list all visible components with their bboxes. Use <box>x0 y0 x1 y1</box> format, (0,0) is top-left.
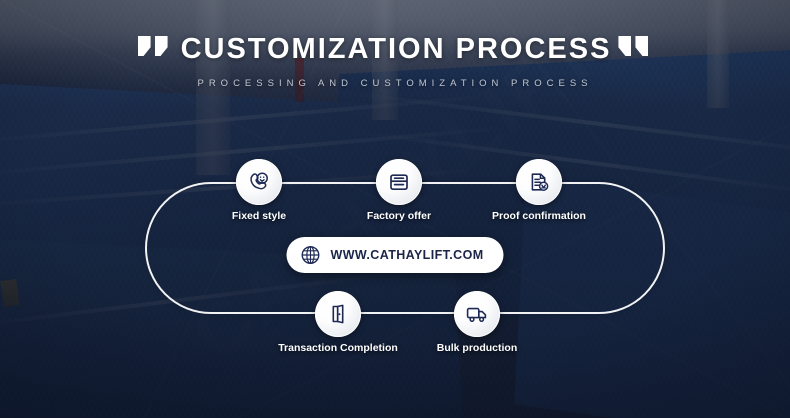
process-step-fixed-style[interactable]: Fixed style <box>236 159 282 205</box>
document-check-icon <box>527 170 551 194</box>
step-label: Transaction Completion <box>278 342 398 354</box>
box-archive-icon <box>387 170 411 194</box>
step-label: Fixed style <box>232 210 286 222</box>
globe-icon <box>299 244 321 266</box>
website-url-text: WWW.CATHAYLIFT.COM <box>330 248 483 262</box>
phone-smile-icon <box>247 170 271 194</box>
delivery-truck-icon <box>465 302 489 326</box>
page-title: CUSTOMIZATION PROCESS <box>181 34 612 64</box>
title-row: CUSTOMIZATION PROCESS <box>0 34 790 64</box>
process-step-factory-offer[interactable]: Factory offer <box>376 159 422 205</box>
step-icon-bubble <box>454 291 500 337</box>
process-infographic-banner: CATHAYLIFT CUSTOMIZATION PROCESS PROCESS… <box>0 0 790 418</box>
open-quote-icon <box>138 36 172 58</box>
banner-header: CUSTOMIZATION PROCESS PROCESSING AND CUS… <box>0 34 790 89</box>
door-open-icon <box>326 302 350 326</box>
process-step-bulk-production[interactable]: Bulk production <box>454 291 500 337</box>
website-badge[interactable]: WWW.CATHAYLIFT.COM <box>286 237 503 273</box>
close-quote-icon <box>618 36 652 58</box>
step-label: Factory offer <box>367 210 431 222</box>
process-step-transaction-completion[interactable]: Transaction Completion <box>315 291 361 337</box>
step-icon-bubble <box>516 159 562 205</box>
step-icon-bubble <box>236 159 282 205</box>
step-label: Bulk production <box>437 342 518 354</box>
step-icon-bubble <box>315 291 361 337</box>
step-label: Proof confirmation <box>492 210 586 222</box>
page-subtitle: PROCESSING AND CUSTOMIZATION PROCESS <box>0 78 790 89</box>
step-icon-bubble <box>376 159 422 205</box>
process-step-proof-confirmation[interactable]: Proof confirmation <box>516 159 562 205</box>
